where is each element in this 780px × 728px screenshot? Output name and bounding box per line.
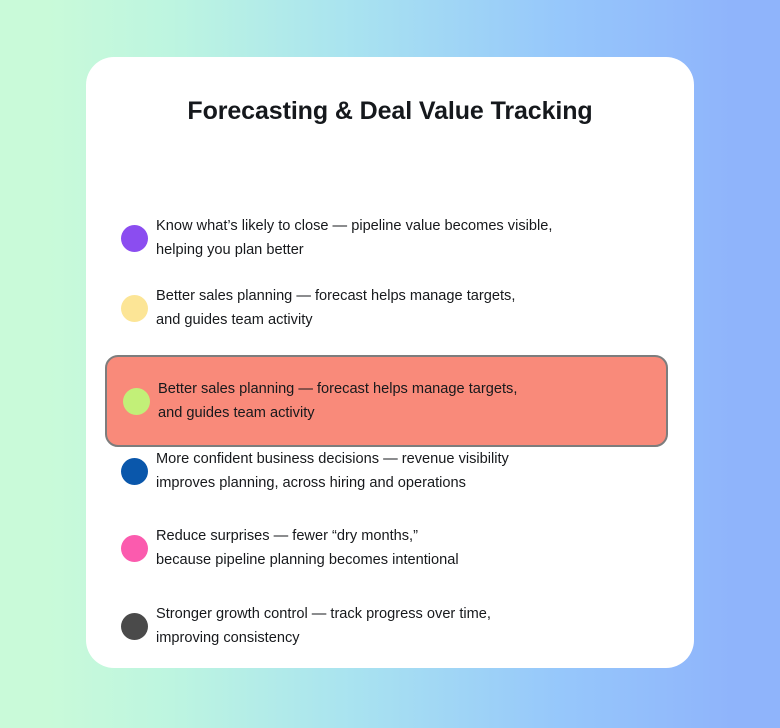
benefit-item[interactable]: Better sales planning — forecast helps m…: [105, 279, 668, 337]
benefit-item[interactable]: More confident business decisions — reve…: [105, 442, 668, 500]
benefit-item-label: Know what’s likely to close — pipeline v…: [156, 214, 668, 262]
bullet-dot-green: [123, 388, 150, 415]
page-title: Forecasting & Deal Value Tracking: [86, 98, 694, 126]
benefit-item-highlighted[interactable]: Better sales planning — forecast helps m…: [105, 355, 668, 447]
benefit-item[interactable]: Stronger growth control — track progress…: [105, 597, 668, 655]
benefit-item-label: Stronger growth control — track progress…: [156, 602, 668, 650]
benefit-item-label: Better sales planning — forecast helps m…: [156, 284, 668, 332]
bullet-dot-gray: [121, 613, 148, 640]
benefit-item-label: Reduce surprises — fewer “dry months,” b…: [156, 524, 668, 572]
bullet-dot-purple: [121, 225, 148, 252]
slide-canvas: Forecasting & Deal Value Tracking Know w…: [0, 0, 780, 728]
benefit-item-label: More confident business decisions — reve…: [156, 447, 668, 495]
benefit-item-label: Better sales planning — forecast helps m…: [158, 377, 666, 425]
bullet-dot-pink: [121, 535, 148, 562]
bullet-dot-yellow: [121, 295, 148, 322]
benefit-item[interactable]: Know what’s likely to close — pipeline v…: [105, 209, 668, 267]
benefit-item[interactable]: Reduce surprises — fewer “dry months,” b…: [105, 519, 668, 577]
bullet-dot-blue: [121, 458, 148, 485]
content-card: Forecasting & Deal Value Tracking Know w…: [86, 57, 694, 668]
